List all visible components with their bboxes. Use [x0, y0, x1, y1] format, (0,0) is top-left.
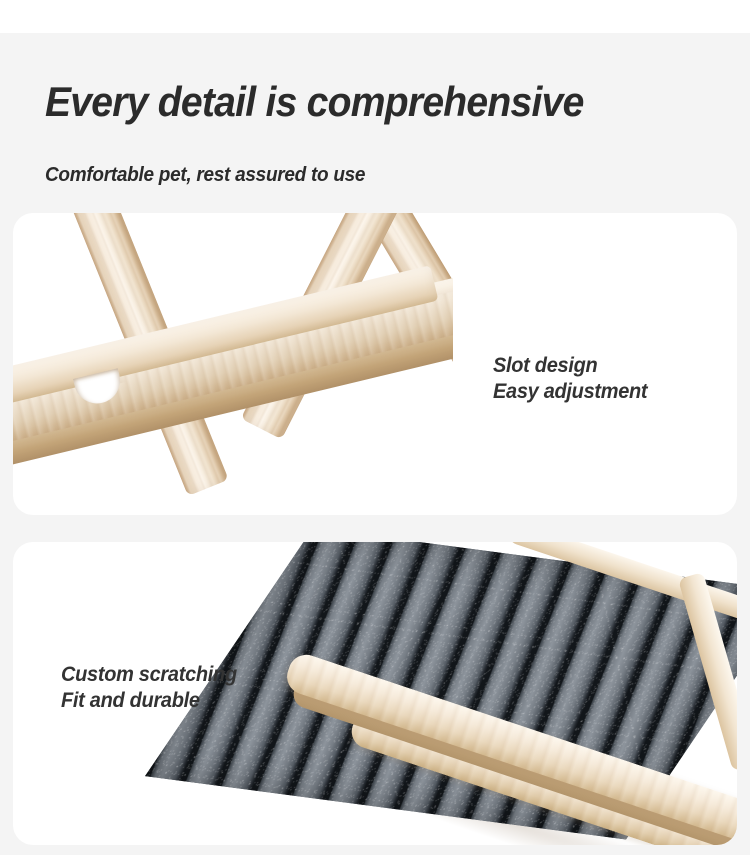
caption-line-1: Slot design — [493, 353, 647, 379]
page-title: Every detail is comprehensive — [45, 76, 659, 128]
product-detail-page: Every detail is comprehensive Comfortabl… — [0, 0, 750, 855]
card-caption-slot-design: Slot design Easy adjustment — [493, 353, 647, 405]
feature-card-slot-design: Slot design Easy adjustment — [13, 213, 737, 515]
caption-line-1: Custom scratching — [61, 662, 237, 688]
page-subtitle: Comfortable pet, rest assured to use — [45, 162, 365, 188]
caption-line-2: Easy adjustment — [493, 379, 647, 405]
header-block: Every detail is comprehensive Comfortabl… — [45, 76, 705, 128]
feature-card-custom-scratching: Custom scratching Fit and durable — [13, 542, 737, 845]
card-caption-custom-scratching: Custom scratching Fit and durable — [61, 662, 237, 714]
caption-line-2: Fit and durable — [61, 688, 237, 714]
slot-design-photo — [13, 213, 453, 515]
